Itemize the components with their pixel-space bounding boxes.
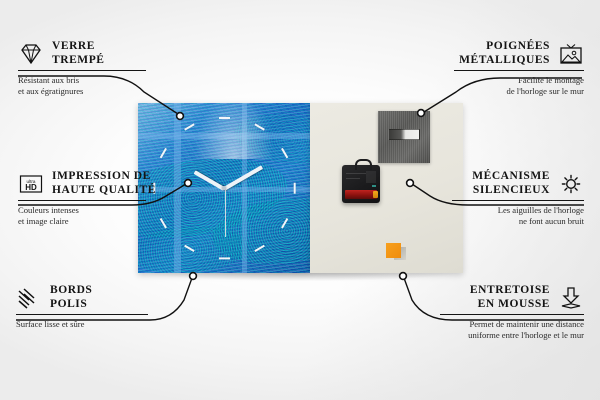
gear-icon [558,172,584,196]
callout-title-line2: POLIS [50,298,92,312]
callout-mecanisme-silencieux: MÉCANISME SILENCIEUX Les aiguilles de l'… [452,170,584,226]
hanger-slot [388,129,420,140]
callout-header: VERRE TREMPÉ [18,40,146,67]
diamond-icon [18,42,44,66]
callout-subtitle-line1: Résistant aux bris [18,75,146,86]
battery [345,190,377,199]
callout-subtitle-line2: uniforme entre l'horloge et le mur [440,330,584,341]
callout-header: ENTRETOISE EN MOUSSE [440,284,584,311]
callout-impression-haute-qualite: ultra HD IMPRESSION DE HAUTE QUALITÉ Cou… [18,170,146,226]
callout-rule [454,70,584,71]
callout-rule [440,314,584,315]
mechanism-detail [346,178,360,179]
callout-title-line2: MÉTALLIQUES [459,54,550,68]
callout-subtitle-line2: ne font aucun bruit [452,216,584,227]
callout-verre-trempe: VERRE TREMPÉ Résistant aux bris et aux é… [18,40,146,96]
callout-rule [16,314,148,315]
clock-tick [160,148,168,159]
wall-mount-icon [558,42,584,66]
callout-title-line1: POIGNÉES [459,40,550,54]
ultra-hd-icon-main: HD [25,183,37,192]
callout-header: BORDS POLIS [16,284,148,311]
mechanism-detail [366,171,376,183]
hand-cap [222,186,226,190]
clock-mechanism [342,165,380,203]
callout-subtitle-line2: de l'horloge sur le mur [454,86,584,97]
mechanism-detail [346,173,366,174]
clock-back-panel [310,103,463,273]
clock-tick [219,117,230,119]
callout-title-line2: HAUTE QUALITÉ [52,184,156,198]
callout-title-line1: ENTRETOISE [470,284,550,298]
product-image [138,103,463,273]
callout-bords-polis: BORDS POLIS Surface lisse et sûre [16,284,148,330]
callout-rule [18,200,146,201]
callout-subtitle-line2: et image claire [18,216,146,227]
callout-title-line2: EN MOUSSE [470,298,550,312]
product-shadow [146,272,458,281]
clock-face-panel [138,103,310,273]
callout-header: POIGNÉES MÉTALLIQUES [454,40,584,67]
metal-hanger [378,111,430,163]
callout-rule [18,70,146,71]
callout-title-line1: BORDS [50,284,92,298]
clock-tick [184,124,195,132]
ultra-hd-icon: ultra HD [18,172,44,196]
callout-title-line2: SILENCIEUX [472,184,550,198]
callout-title-line1: MÉCANISME [472,170,550,184]
foam-spacer [386,243,401,258]
callout-subtitle-line1: Surface lisse et sûre [16,319,148,330]
clock-tick [293,182,295,193]
callout-poignees-metalliques: POIGNÉES MÉTALLIQUES Facilite le montage… [454,40,584,96]
callout-subtitle-line1: Couleurs intenses [18,205,146,216]
mechanism-indicator [372,185,376,187]
callout-title-line1: VERRE [52,40,105,54]
callout-entretoise-en-mousse: ENTRETOISE EN MOUSSE Permet de maintenir… [440,284,584,340]
mechanism-loop [355,159,372,170]
callout-subtitle-line2: et aux égratignures [18,86,146,97]
callout-header: ultra HD IMPRESSION DE HAUTE QUALITÉ [18,170,146,197]
callout-header: MÉCANISME SILENCIEUX [452,170,584,197]
polished-edges-icon [16,286,42,310]
clock-tick [219,257,230,259]
second-hand [225,189,226,237]
callout-rule [452,200,584,201]
infographic-canvas: VERRE TREMPÉ Résistant aux bris et aux é… [0,0,600,400]
callout-title-line1: IMPRESSION DE [52,170,156,184]
callout-subtitle-line1: Permet de maintenir une distance [440,319,584,330]
callout-subtitle-line1: Les aiguilles de l'horloge [452,205,584,216]
callout-title-line2: TREMPÉ [52,54,105,68]
foam-spacer-icon [558,286,584,310]
callout-subtitle-line1: Facilite le montage [454,75,584,86]
glass-glare [194,103,274,159]
